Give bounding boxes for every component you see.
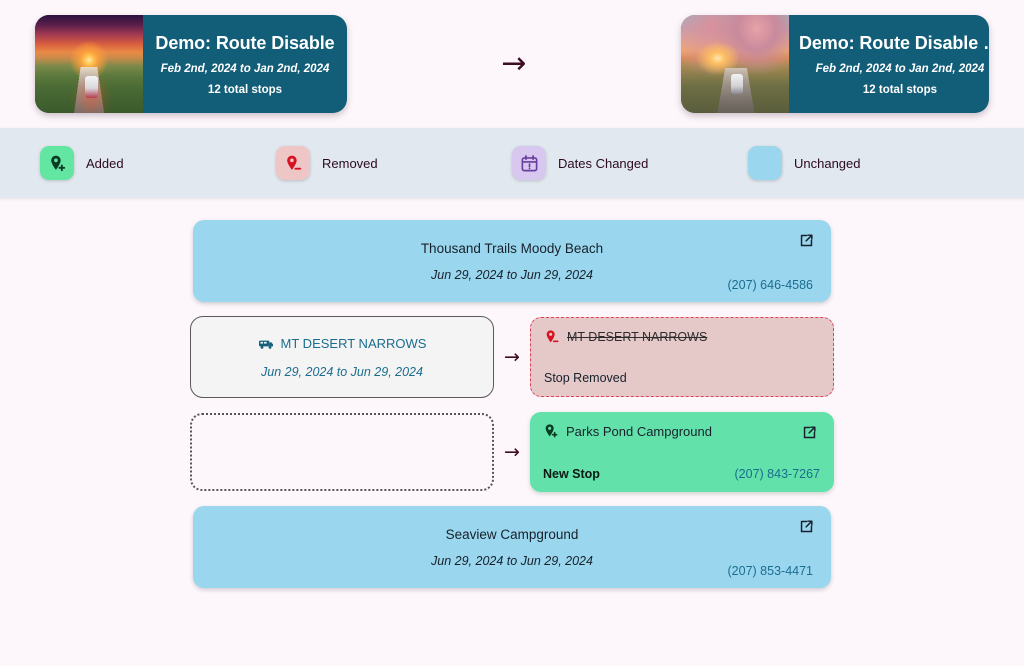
- external-link-icon[interactable]: [801, 424, 818, 441]
- unchanged-swatch-icon: [748, 146, 782, 180]
- diff-arrow-right-icon: →: [494, 346, 530, 368]
- stop-diff-pair-removed: MT DESERT NARROWS Jun 29, 2024 to Jun 29…: [40, 316, 984, 398]
- header-arrow-right-icon: →: [501, 49, 526, 79]
- legend-label-unchanged: Unchanged: [794, 156, 861, 171]
- list-item: → Parks Pond Campground New Stop: [0, 412, 1024, 492]
- trip-card-after[interactable]: Demo: Route Disable … Feb 2nd, 2024 to J…: [681, 15, 989, 113]
- external-link-icon[interactable]: [798, 518, 815, 535]
- legend-label-added: Added: [86, 156, 124, 171]
- trip-stops-after: 12 total stops: [863, 84, 937, 96]
- list-item: MT DESERT NARROWS Jun 29, 2024 to Jun 29…: [0, 316, 1024, 398]
- stop-title-added-text: Parks Pond Campground: [566, 424, 712, 439]
- stop-pane-before: [190, 413, 494, 491]
- legend-bar: Added Removed Dates Changed Unchanged: [0, 128, 1024, 198]
- stop-dates-old: Jun 29, 2024 to Jun 29, 2024: [261, 365, 423, 379]
- stop-card-empty-placeholder: [190, 413, 494, 491]
- stop-phone-link[interactable]: (207) 646-4586: [728, 278, 813, 292]
- trip-title-before: Demo: Route Disable: [155, 33, 334, 54]
- status-badge: Stop Removed: [544, 371, 820, 385]
- stop-title-old-text: MT DESERT NARROWS: [281, 336, 427, 351]
- stop-title: Seaview Campground: [446, 527, 579, 542]
- legend-label-removed: Removed: [322, 156, 378, 171]
- stop-phone-link[interactable]: (207) 843-7267: [735, 467, 820, 481]
- diff-arrow-right-icon: →: [494, 441, 530, 463]
- map-pin-plus-icon: [40, 146, 74, 180]
- stop-title-added: Parks Pond Campground: [543, 423, 821, 439]
- list-item: Seaview Campground Jun 29, 2024 to Jun 2…: [0, 506, 1024, 588]
- stop-pane-before: MT DESERT NARROWS Jun 29, 2024 to Jun 29…: [190, 316, 494, 398]
- map-pin-minus-icon: [276, 146, 310, 180]
- stop-card-unchanged[interactable]: Seaview Campground Jun 29, 2024 to Jun 2…: [193, 506, 831, 588]
- stop-title-removed-text: MT DESERT NARROWS: [567, 330, 707, 344]
- stop-dates: Jun 29, 2024 to Jun 29, 2024: [431, 554, 593, 568]
- trip-thumbnail-after-icon: [681, 15, 789, 113]
- trip-comparison-header: Demo: Route Disable Feb 2nd, 2024 to Jan…: [0, 0, 1024, 128]
- stop-card-removed[interactable]: MT DESERT NARROWS Stop Removed: [530, 317, 834, 397]
- stop-title-old: MT DESERT NARROWS: [258, 336, 427, 352]
- rv-icon: [258, 336, 274, 352]
- stop-diff-pair-added: → Parks Pond Campground New Stop: [40, 412, 984, 492]
- map-pin-minus-icon: [544, 329, 560, 345]
- trip-thumbnail-before-icon: [35, 15, 143, 113]
- stop-dates: Jun 29, 2024 to Jun 29, 2024: [431, 268, 593, 282]
- stop-pane-after: Parks Pond Campground New Stop (207) 843…: [530, 412, 834, 492]
- trip-info-after: Demo: Route Disable … Feb 2nd, 2024 to J…: [789, 15, 989, 113]
- map-pin-plus-icon: [543, 423, 559, 439]
- list-item: Thousand Trails Moody Beach Jun 29, 2024…: [0, 220, 1024, 302]
- legend-item-dates-changed: Dates Changed: [512, 146, 748, 180]
- stop-title-removed: MT DESERT NARROWS: [544, 329, 820, 345]
- stop-pane-after: MT DESERT NARROWS Stop Removed: [530, 317, 834, 397]
- legend-label-dates-changed: Dates Changed: [558, 156, 648, 171]
- legend-item-unchanged: Unchanged: [748, 146, 984, 180]
- stop-diff-list: Thousand Trails Moody Beach Jun 29, 2024…: [0, 198, 1024, 588]
- trip-title-after: Demo: Route Disable …: [799, 33, 989, 54]
- trip-dates-before: Feb 2nd, 2024 to Jan 2nd, 2024: [161, 63, 330, 75]
- stop-title: Thousand Trails Moody Beach: [421, 241, 603, 256]
- legend-item-removed: Removed: [276, 146, 512, 180]
- trip-info-before: Demo: Route Disable Feb 2nd, 2024 to Jan…: [143, 15, 347, 113]
- stop-card-added[interactable]: Parks Pond Campground New Stop (207) 843…: [530, 412, 834, 492]
- trip-stops-before: 12 total stops: [208, 84, 282, 96]
- stop-phone-link[interactable]: (207) 853-4471: [728, 564, 813, 578]
- trip-card-before[interactable]: Demo: Route Disable Feb 2nd, 2024 to Jan…: [35, 15, 347, 113]
- external-link-icon[interactable]: [798, 232, 815, 249]
- stop-card-unchanged[interactable]: Thousand Trails Moody Beach Jun 29, 2024…: [193, 220, 831, 302]
- trip-dates-after: Feb 2nd, 2024 to Jan 2nd, 2024: [816, 63, 985, 75]
- stop-card-old[interactable]: MT DESERT NARROWS Jun 29, 2024 to Jun 29…: [190, 316, 494, 398]
- calendar-alert-icon: [512, 146, 546, 180]
- legend-item-added: Added: [40, 146, 276, 180]
